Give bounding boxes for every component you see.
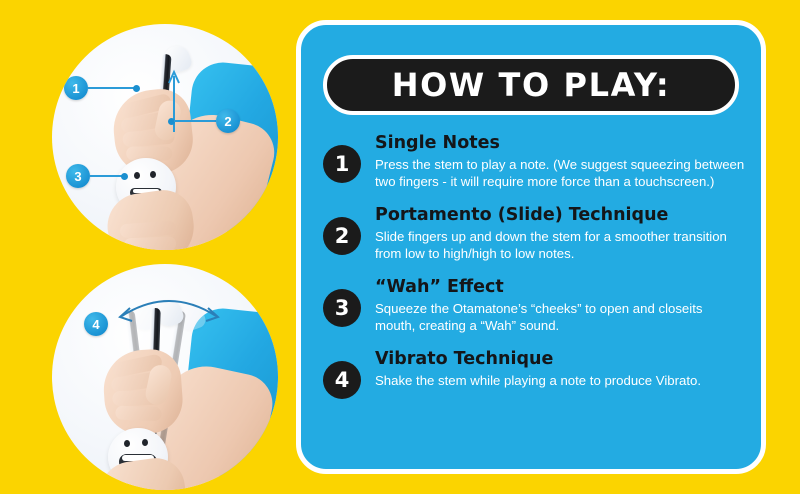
photo-column: 1 2 3 [0,0,290,494]
step-body: Portamento (Slide) Technique Slide finge… [375,201,745,262]
callout-leader-line [174,120,216,122]
step-number-badge: 2 [323,217,361,255]
step-body: “Wah” Effect Squeeze the Otamatone’s “ch… [375,273,745,334]
callout-3: 3 [66,164,128,188]
shake-motion-arrow-icon [114,294,224,334]
eye-icon [124,440,130,447]
step-description: Shake the stem while playing a note to p… [375,372,701,389]
list-item: 4 Vibrato Technique Shake the stem while… [323,345,745,399]
callout-badge-1: 1 [64,76,88,100]
step-number-badge: 4 [323,361,361,399]
callout-leader-line [88,87,134,89]
list-item: 1 Single Notes Press the stem to play a … [323,129,745,190]
callout-anchor-dot [121,173,128,180]
callout-2: 2 [168,109,240,133]
photo-holding-otamatone-stem: 1 2 3 [52,24,278,250]
step-number-badge: 1 [323,145,361,183]
eye-icon [142,439,148,446]
step-heading: Portamento (Slide) Technique [375,205,745,226]
callout-badge-3: 3 [66,164,90,188]
steps-list: 1 Single Notes Press the stem to play a … [323,129,745,410]
upper-hand [101,347,185,436]
callout-4: 4 [84,312,108,336]
step-body: Single Notes Press the stem to play a no… [375,129,745,190]
finger [115,406,161,422]
page-title: HOW TO PLAY: [392,66,671,104]
photo-scene [52,264,278,490]
callout-badge-4: 4 [84,312,108,336]
photo-shaking-otamatone-vibrato: 4 [52,264,278,490]
slide-up-arrow-icon [52,24,278,250]
step-description: Squeeze the Otamatone’s “cheeks” to open… [375,300,745,334]
how-to-play-panel: HOW TO PLAY: 1 Single Notes Press the st… [296,20,766,474]
panel-title-pill: HOW TO PLAY: [323,55,739,115]
step-heading: Single Notes [375,133,745,154]
finger [112,488,169,490]
step-heading: “Wah” Effect [375,277,745,298]
callout-leader-line [90,175,122,177]
callout-badge-2: 2 [216,109,240,133]
step-description: Press the stem to play a note. (We sugge… [375,156,745,190]
callout-1: 1 [64,76,140,100]
callout-anchor-dot [133,85,140,92]
step-body: Vibrato Technique Shake the stem while p… [375,345,701,389]
photo-scene [52,24,278,250]
list-item: 2 Portamento (Slide) Technique Slide fin… [323,201,745,262]
step-heading: Vibrato Technique [375,349,701,370]
list-item: 3 “Wah” Effect Squeeze the Otamatone’s “… [323,273,745,334]
step-description: Slide fingers up and down the stem for a… [375,228,745,262]
step-number-badge: 3 [323,289,361,327]
